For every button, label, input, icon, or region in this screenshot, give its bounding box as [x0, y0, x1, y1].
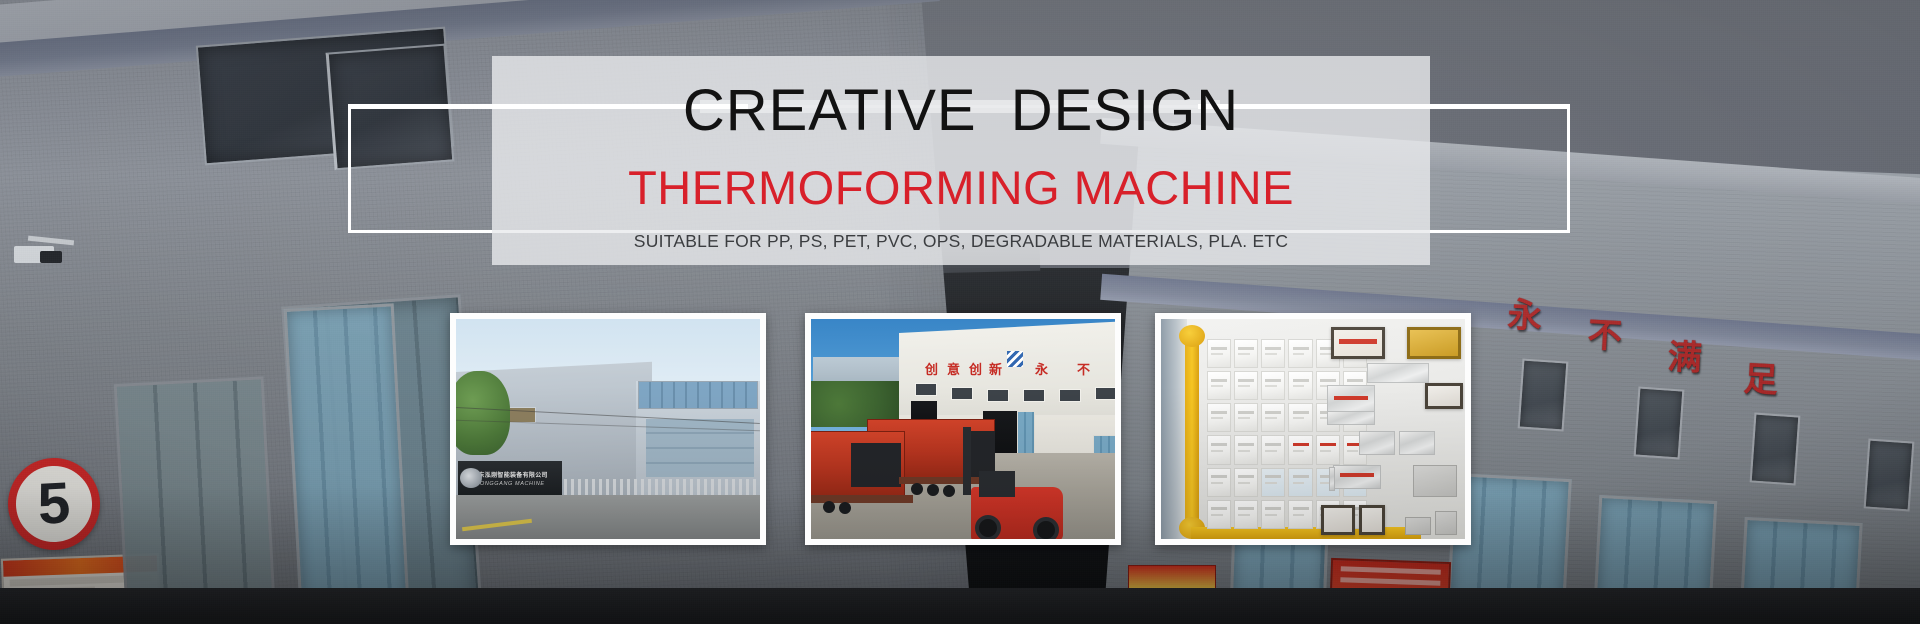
- red-banner-line: [1340, 577, 1440, 585]
- truck-wheel: [823, 501, 835, 513]
- yellow-accent-cap: [1179, 325, 1205, 347]
- certificate: [1261, 339, 1285, 368]
- certificate: [1261, 500, 1285, 529]
- wall-character-3: 满: [1667, 329, 1704, 380]
- thumbnail-image: [1161, 319, 1465, 539]
- hero-tagline: SUITABLE FOR PP, PS, PET, PVC, OPS, DEGR…: [634, 233, 1288, 251]
- thumbnail-image: 广东泓刚智能装备有限公司 HONGGANG MACHINE: [456, 319, 760, 539]
- workshop-window: [1095, 387, 1115, 400]
- certificate: [1288, 403, 1312, 432]
- truck-wheel: [943, 485, 955, 497]
- red-banner-line: [1341, 566, 1441, 574]
- wall-character-1: 创: [925, 359, 938, 378]
- certificate: [1288, 500, 1312, 529]
- wall-character-1: 永: [1507, 287, 1544, 338]
- certificate: [1316, 435, 1340, 464]
- hero-text-block: CREATIVE DESIGN THERMOFORMING MACHINE SU…: [492, 56, 1430, 265]
- certificate: [1261, 371, 1285, 400]
- thumbnail-strip: 广东泓刚智能装备有限公司 HONGGANG MACHINE 创 意: [450, 313, 1170, 545]
- certificate: [1234, 339, 1258, 368]
- workshop-window: [915, 383, 937, 396]
- certificate: [1288, 435, 1312, 464]
- office-glass-band: [638, 381, 758, 409]
- certificate: [1207, 339, 1231, 368]
- certificate: [1261, 468, 1285, 497]
- certificate: [1207, 403, 1231, 432]
- thumbnail-image: 创 意 创 新 永 不: [811, 319, 1115, 539]
- right-facade-window: [1864, 438, 1915, 511]
- certificate: [1261, 435, 1285, 464]
- company-emblem: [1007, 351, 1023, 367]
- certificate: [1288, 371, 1312, 400]
- truck-wheel: [911, 483, 923, 495]
- silver-plaque: [1399, 431, 1435, 455]
- thumbnail-factory-gate[interactable]: 广东泓刚智能装备有限公司 HONGGANG MACHINE: [450, 313, 766, 545]
- company-sign-cn: 广东泓刚智能装备有限公司: [472, 470, 548, 479]
- security-camera-lens-icon: [40, 251, 62, 263]
- thumbnail-certificate-wall[interactable]: [1155, 313, 1471, 545]
- award-plaque: [1359, 505, 1385, 535]
- wall-character-3: 创: [969, 359, 982, 378]
- truck-wheel: [927, 484, 939, 496]
- certificate-grid: [1207, 339, 1367, 529]
- blue-glass-door: [284, 303, 410, 624]
- tree: [456, 371, 510, 455]
- truck-wheel: [839, 502, 851, 514]
- certificate: [1234, 468, 1258, 497]
- banner-hero: 5 永 不 满 足: [0, 0, 1920, 624]
- silver-plaque: [1327, 411, 1375, 425]
- certificate: [1207, 435, 1231, 464]
- left-glass-window-bank-secondary: [114, 376, 277, 624]
- workshop-window: [987, 389, 1009, 402]
- workshop-window: [1023, 389, 1045, 402]
- award-box: [1413, 465, 1457, 497]
- thumbnail-container-loading[interactable]: 创 意 创 新 永 不: [805, 313, 1121, 545]
- certificate: [1234, 403, 1258, 432]
- forklift-cab: [979, 471, 1015, 497]
- wall-side-panel: [1161, 319, 1187, 539]
- wall-character-6: 不: [1077, 359, 1090, 378]
- ground-apron: [0, 588, 1920, 624]
- award-box: [1435, 511, 1457, 535]
- award-box: [1405, 517, 1431, 535]
- right-facade-window: [1634, 386, 1685, 459]
- certificate: [1288, 339, 1312, 368]
- award-plaque: [1321, 505, 1355, 535]
- yellow-accent-ribbon: [1185, 331, 1199, 531]
- certificate: [1207, 468, 1231, 497]
- wall-character-4: 足: [1743, 351, 1780, 402]
- forklift-mast: [963, 427, 971, 495]
- company-sign-en: HONGGANG MACHINE: [475, 481, 544, 487]
- silver-plaque: [1329, 467, 1335, 491]
- certificate: [1261, 403, 1285, 432]
- certificate: [1207, 371, 1231, 400]
- workshop-window: [1059, 389, 1081, 402]
- workshop-window: [951, 387, 973, 400]
- silver-plaque: [1367, 363, 1429, 383]
- certificate: [1207, 500, 1231, 529]
- container-interior: [851, 443, 901, 487]
- certificate: [1234, 435, 1258, 464]
- forklift-wheel: [1033, 517, 1059, 539]
- right-facade-window: [1518, 358, 1569, 431]
- forklift-wheel: [975, 515, 1001, 539]
- wall-character-2: 不: [1587, 307, 1624, 358]
- certificate: [1234, 371, 1258, 400]
- award-plaque: [1407, 327, 1461, 359]
- silver-plaque: [1359, 431, 1395, 455]
- wall-character-4: 新: [989, 359, 1002, 378]
- certificate: [1234, 500, 1258, 529]
- right-facade-window: [1750, 412, 1801, 485]
- award-plaque: [1331, 327, 1385, 359]
- wall-character-2: 意: [947, 359, 960, 378]
- award-plaque: [1425, 383, 1463, 409]
- hero-title: CREATIVE DESIGN: [683, 82, 1239, 140]
- hero-subtitle: THERMOFORMING MACHINE: [628, 164, 1294, 211]
- road: [456, 495, 760, 539]
- company-logo: [460, 468, 482, 488]
- speed-limit-value: 5: [36, 474, 71, 534]
- silver-plaque: [1333, 465, 1381, 489]
- wall-character-5: 永: [1035, 359, 1048, 378]
- certificate: [1288, 468, 1312, 497]
